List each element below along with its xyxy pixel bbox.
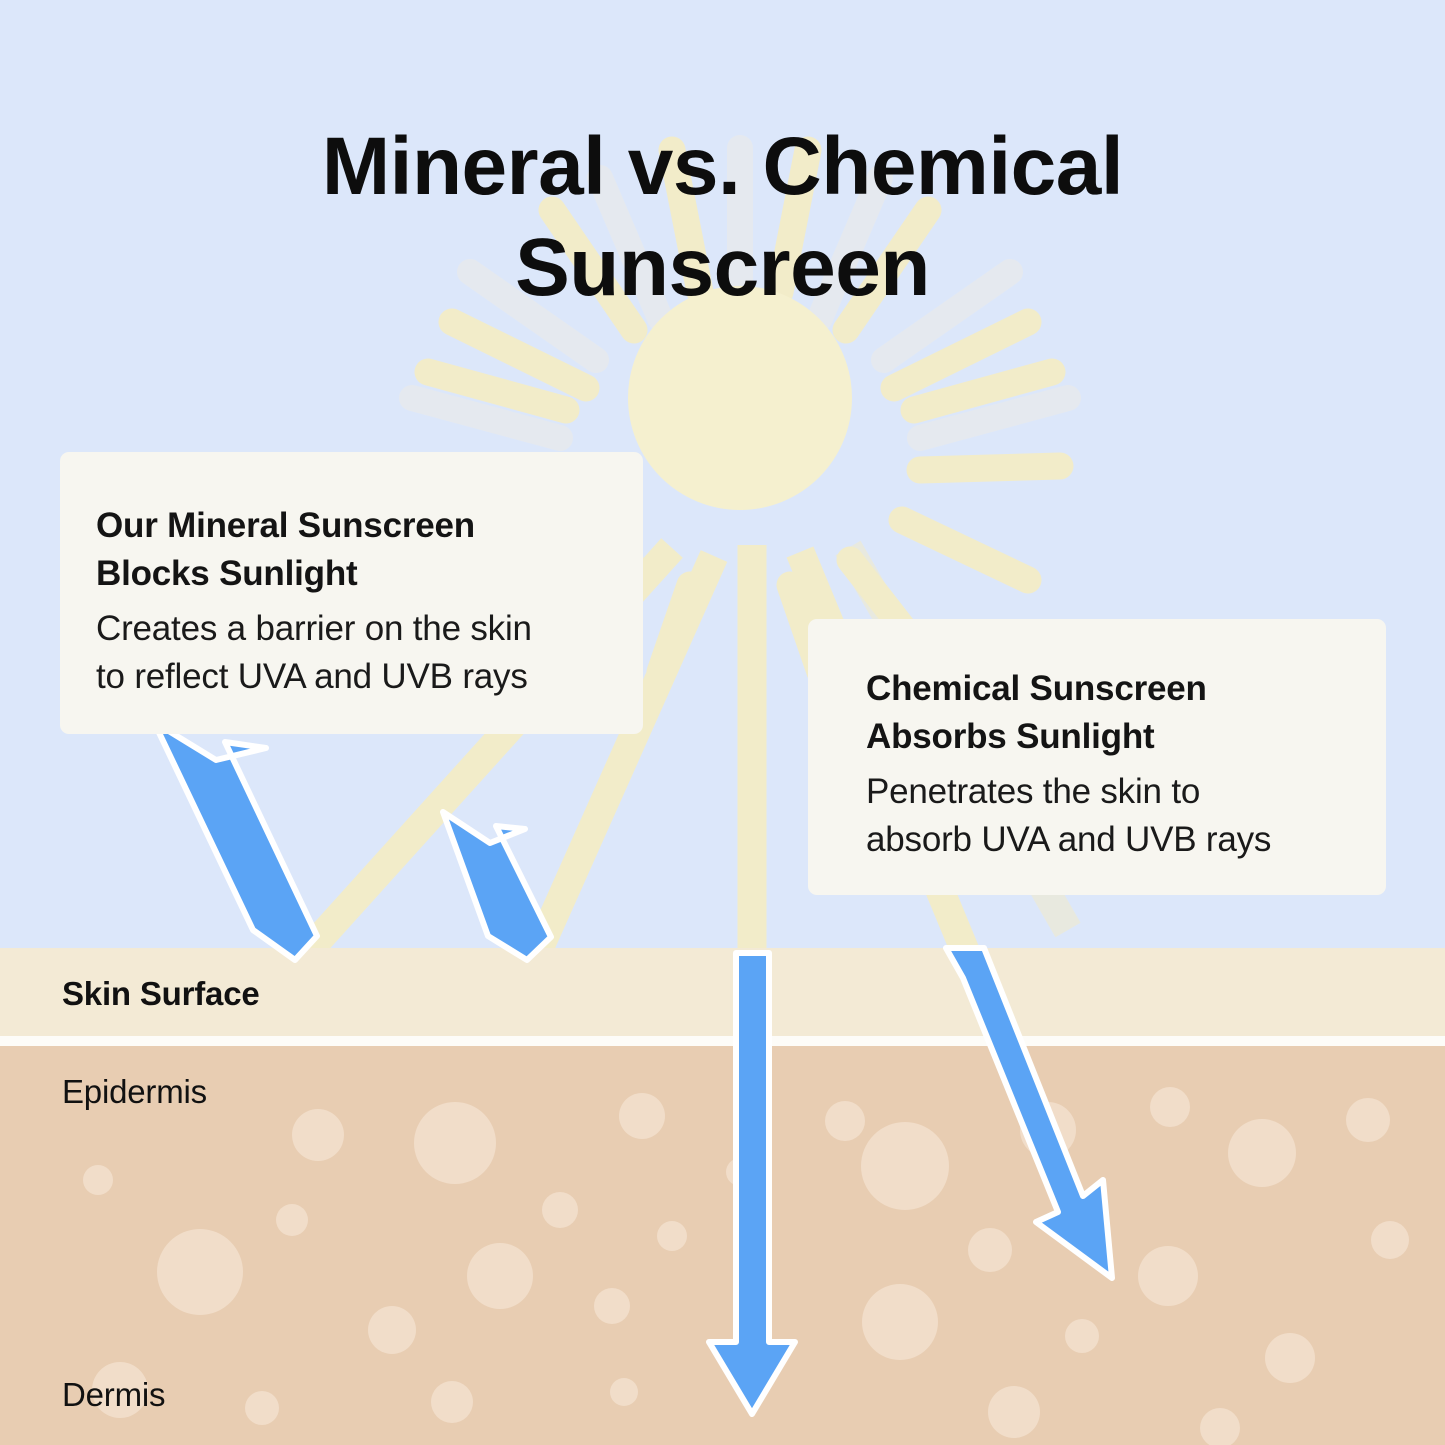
callout-mineral-sunscreen: Our Mineral Sunscreen Blocks Sunlight Cr… [60,452,643,734]
callout-chemical-body: Penetrates the skin to absorb UVA and UV… [866,768,1346,863]
callout-mineral-heading-line-2: Blocks Sunlight [96,554,357,593]
sun-disc [628,286,852,510]
callout-chemical-heading-line-2: Absorbs Sunlight [866,717,1154,756]
callout-mineral-body: Creates a barrier on the skin to reflect… [96,605,607,700]
callout-mineral-heading: Our Mineral Sunscreen Blocks Sunlight [96,502,607,597]
callout-chemical-sunscreen: Chemical Sunscreen Absorbs Sunlight Pene… [808,619,1386,895]
label-skin-surface: Skin Surface [62,975,260,1013]
callout-chemical-body-line-1: Penetrates the skin to [866,772,1200,811]
label-dermis: Dermis [62,1376,165,1414]
callout-mineral-body-line-1: Creates a barrier on the skin [96,609,532,648]
callout-mineral-body-line-2: to reflect UVA and UVB rays [96,657,528,696]
callout-chemical-heading-line-1: Chemical Sunscreen [866,669,1207,708]
callout-chemical-heading: Chemical Sunscreen Absorbs Sunlight [866,665,1346,760]
callout-chemical-body-line-2: absorb UVA and UVB rays [866,820,1271,859]
label-epidermis: Epidermis [62,1073,207,1111]
callout-mineral-heading-line-1: Our Mineral Sunscreen [96,506,475,545]
skin-layer-separator [0,1036,1445,1046]
infographic-canvas: Mineral vs. Chemical Sunscreen Our Miner… [0,0,1445,1445]
